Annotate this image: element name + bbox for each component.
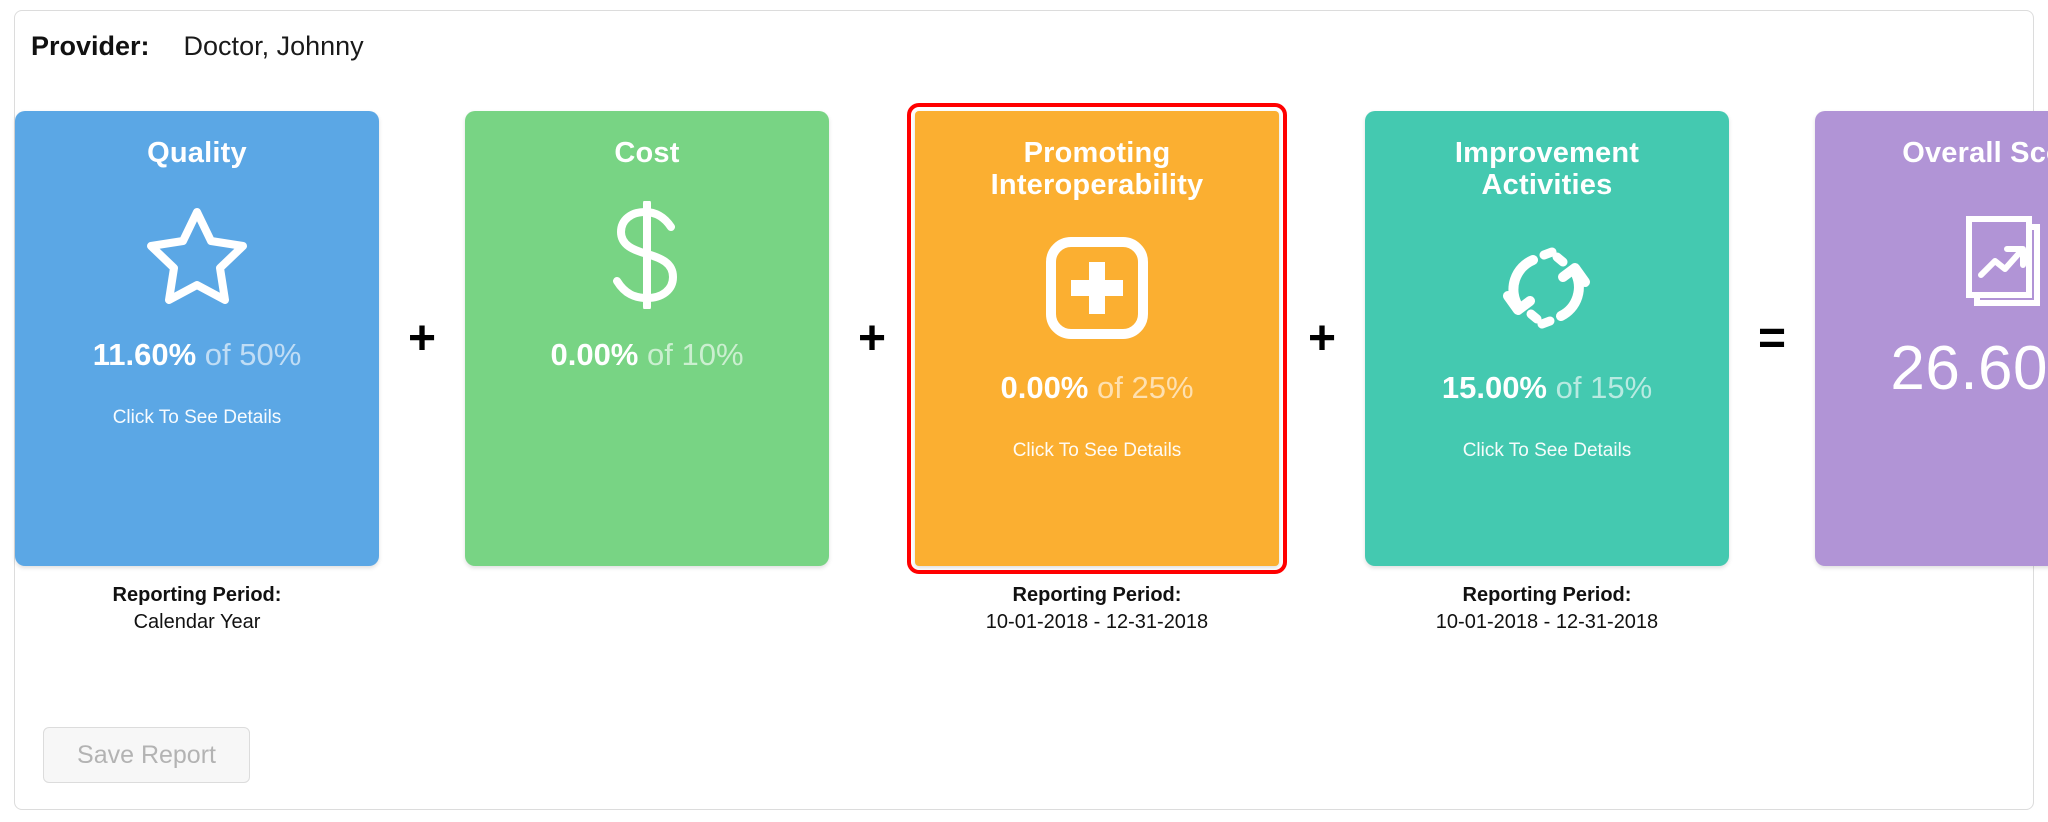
reporting-period-value-promoting-interoperability: 10-01-2018 - 12-31-2018: [986, 609, 1208, 636]
operator-equals: =: [1729, 111, 1815, 566]
reporting-period-label-promoting-interoperability: Reporting Period:: [986, 582, 1208, 609]
card-column-overall-score: Overall Score 26.60%: [1815, 111, 2048, 566]
score-achieved-improvement-activities: 15.00%: [1442, 370, 1547, 405]
card-column-improvement-activities: Improvement Activities 15.00%: [1365, 111, 1729, 636]
reporting-period-value-improvement-activities: 10-01-2018 - 12-31-2018: [1436, 609, 1658, 636]
card-column-quality: Quality 11.60% of 50% Click To See Detai…: [15, 111, 379, 636]
report-trend-icon: [1945, 195, 2048, 315]
reporting-period-quality: Reporting Period: Calendar Year: [113, 582, 282, 636]
score-target-promoting-interoperability: of 25%: [1097, 370, 1194, 405]
reporting-period-value-quality: Calendar Year: [113, 609, 282, 636]
provider-row: Provider: Doctor, Johnny: [31, 31, 364, 62]
score-achieved-promoting-interoperability: 0.00%: [1000, 370, 1088, 405]
card-title-promoting-interoperability: Promoting Interoperability: [977, 137, 1218, 202]
score-target-improvement-activities: of 15%: [1556, 370, 1653, 405]
reporting-period-label-improvement-activities: Reporting Period:: [1436, 582, 1658, 609]
save-report-button[interactable]: Save Report: [43, 727, 250, 783]
score-achieved-quality: 11.60%: [93, 337, 196, 372]
reporting-period-label-quality: Reporting Period:: [113, 582, 282, 609]
score-card-improvement-activities[interactable]: Improvement Activities 15.00%: [1365, 111, 1729, 566]
operator-plus-3: +: [1279, 111, 1365, 566]
score-card-quality[interactable]: Quality 11.60% of 50% Click To See Detai…: [15, 111, 379, 566]
overall-score-value: 26.60%: [1890, 333, 2048, 404]
card-title-quality: Quality: [133, 137, 261, 169]
score-line-cost: 0.00% of 10%: [550, 337, 743, 373]
provider-label: Provider:: [31, 31, 150, 62]
score-line-promoting-interoperability: 0.00% of 25%: [1000, 370, 1193, 406]
card-title-cost: Cost: [600, 137, 693, 169]
operator-plus-1: +: [379, 111, 465, 566]
score-cards-row: Quality 11.60% of 50% Click To See Detai…: [15, 111, 2035, 636]
reporting-period-promoting-interoperability: Reporting Period: 10-01-2018 - 12-31-201…: [986, 582, 1208, 636]
card-column-cost: Cost 0.00% of 10%: [465, 111, 829, 566]
card-title-improvement-activities: Improvement Activities: [1441, 137, 1653, 202]
operator-plus-2: +: [829, 111, 915, 566]
reporting-period-improvement-activities: Reporting Period: 10-01-2018 - 12-31-201…: [1436, 582, 1658, 636]
provider-score-panel: Provider: Doctor, Johnny Quality 11.60% …: [14, 10, 2034, 810]
score-achieved-cost: 0.00%: [550, 337, 638, 372]
score-target-cost: of 10%: [647, 337, 744, 372]
score-card-promoting-interoperability[interactable]: Promoting Interoperability 0.00% of 25% …: [915, 111, 1279, 566]
score-line-quality: 11.60% of 50%: [93, 337, 302, 373]
card-column-promoting-interoperability: Promoting Interoperability 0.00% of 25% …: [915, 111, 1279, 636]
card-title-overall-score: Overall Score: [1888, 137, 2048, 169]
details-link-promoting-interoperability[interactable]: Click To See Details: [1013, 440, 1182, 462]
refresh-cycle-icon: [1495, 228, 1599, 348]
score-target-quality: of 50%: [205, 337, 302, 372]
plus-square-icon: [1045, 228, 1149, 348]
star-icon: [145, 195, 249, 315]
provider-name: Doctor, Johnny: [184, 31, 364, 62]
score-card-overall-score[interactable]: Overall Score 26.60%: [1815, 111, 2048, 566]
score-card-cost[interactable]: Cost 0.00% of 10%: [465, 111, 829, 566]
score-line-improvement-activities: 15.00% of 15%: [1442, 370, 1652, 406]
dollar-sign-icon: [601, 195, 693, 315]
details-link-quality[interactable]: Click To See Details: [113, 407, 282, 429]
details-link-improvement-activities[interactable]: Click To See Details: [1463, 440, 1632, 462]
